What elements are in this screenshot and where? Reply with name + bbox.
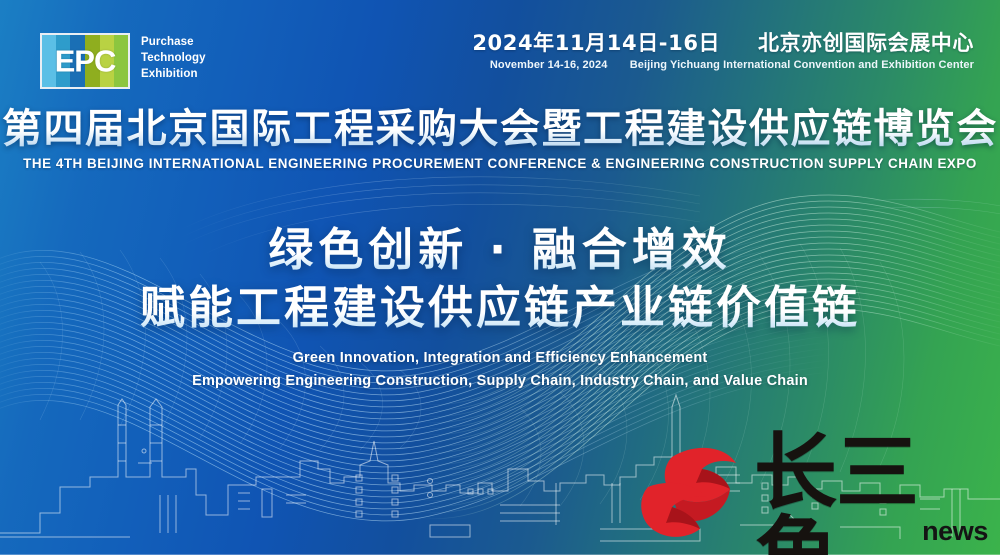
epc-logo: EPC Purchase Technology Exhibition: [40, 33, 206, 89]
poster-header: EPC Purchase Technology Exhibition 2024年…: [0, 0, 1000, 100]
poster-title-en: THE 4TH BEIJING INTERNATIONAL ENGINEERIN…: [0, 156, 1000, 171]
watermark: 长三角 news: [638, 431, 990, 549]
event-date-cn: 2024年11月14日-16日: [472, 31, 720, 55]
poster-title-block: 第四届北京国际工程采购大会暨工程建设供应链博览会 THE 4TH BEIJING…: [0, 107, 1000, 171]
event-date-en: November 14-16, 2024: [490, 59, 608, 71]
slogan-en-line-2: Empowering Engineering Construction, Sup…: [0, 370, 1000, 392]
event-meta-en: November 14-16, 2024 Beijing Yichuang In…: [472, 59, 974, 71]
slogan-en-line-1: Green Innovation, Integration and Effici…: [0, 347, 1000, 369]
event-poster: EPC Purchase Technology Exhibition 2024年…: [0, 0, 1000, 555]
epc-logo-text: EPC: [42, 46, 128, 77]
slogan-en-block: Green Innovation, Integration and Effici…: [0, 347, 1000, 392]
event-venue-en: Beijing Yichuang International Conventio…: [630, 59, 974, 71]
event-meta: 2024年11月14日-16日 北京亦创国际会展中心 November 14-1…: [472, 32, 974, 71]
watermark-wordmark: 长三角 news: [754, 433, 990, 549]
slogan-cn-line-1: 绿色创新 · 融合增效: [0, 224, 1000, 276]
epc-logo-caption: Purchase Technology Exhibition: [141, 33, 206, 83]
logo-caption-line-3: Exhibition: [141, 67, 206, 83]
event-meta-cn: 2024年11月14日-16日 北京亦创国际会展中心: [472, 32, 974, 55]
poster-title-cn: 第四届北京国际工程采购大会暨工程建设供应链博览会: [0, 107, 1000, 152]
logo-caption-line-1: Purchase: [141, 35, 206, 51]
poster-slogan-block: 绿色创新 · 融合增效 赋能工程建设供应链产业链价值链 Green Innova…: [0, 224, 1000, 392]
event-venue-cn: 北京亦创国际会展中心: [758, 31, 974, 55]
changsanjiao-globe-icon: [638, 431, 750, 549]
logo-caption-line-2: Technology: [141, 51, 206, 67]
watermark-news: news: [922, 516, 988, 547]
slogan-cn-line-2: 赋能工程建设供应链产业链价值链: [0, 282, 1000, 334]
epc-logo-mark: EPC: [40, 33, 130, 89]
